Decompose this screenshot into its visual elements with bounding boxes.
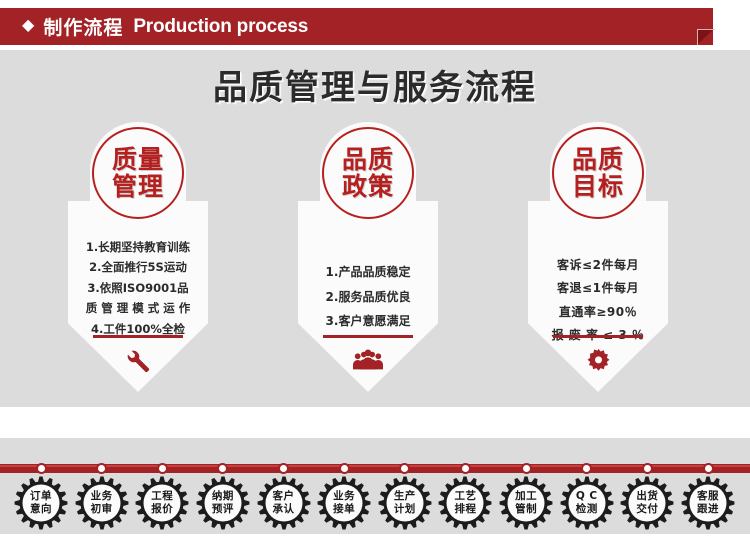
flow-node-1[interactable]: 订单意向: [14, 476, 68, 530]
header-title-cn: 制作流程: [43, 13, 123, 40]
list-item: 1.产品品质稳定: [298, 260, 438, 285]
card-divider: [93, 335, 183, 338]
list-item: 质 管 理 模 式 运 作: [68, 298, 208, 318]
card-quality-policy: 品质 政策 1.产品品质稳定 2.服务品质优良 3.客户意愿满足: [298, 120, 438, 392]
card-circle-title: 品质 目标: [552, 127, 644, 219]
flow-node-label: 纳期预评: [196, 476, 250, 530]
flow-node-label: 订单意向: [14, 476, 68, 530]
people-icon: [298, 348, 438, 377]
flow-node-label-line2: 接单: [333, 503, 355, 516]
flow-connector-dot: [36, 463, 47, 474]
flow-node-label: 工程报价: [135, 476, 189, 530]
flow-node-6[interactable]: 业务接单: [317, 476, 371, 530]
flow-node-label-line2: 交付: [636, 503, 658, 516]
card-circle-line2: 目标: [572, 173, 624, 200]
flow-node-label-line1: 出货: [636, 490, 658, 503]
flow-connector-dot: [642, 463, 653, 474]
gear-icon: [528, 348, 668, 378]
list-item: 2.服务品质优良: [298, 285, 438, 310]
flow-node-12[interactable]: 客服跟进: [681, 476, 735, 530]
flow-node-label-line1: 客服: [697, 490, 719, 503]
flow-connector-dot: [521, 463, 532, 474]
flow-node-label-line1: 业务: [91, 490, 113, 503]
flow-node-3[interactable]: 工程报价: [135, 476, 189, 530]
flow-node-label-line1: 生产: [394, 490, 416, 503]
card-item-list: 客诉≤2件每月 客退≤1件每月 直通率≥90％ 报 废 率 ≤ 3 ％: [528, 254, 668, 348]
flow-node-9[interactable]: 加工管制: [499, 476, 553, 530]
flow-node-label: 工艺排程: [438, 476, 492, 530]
flow-node-10[interactable]: Q C检测: [560, 476, 614, 530]
diamond-icon: ◆: [22, 18, 34, 34]
panel-divider: [0, 407, 750, 438]
card-circle-line1: 质量: [112, 146, 164, 173]
flow-connector-dot: [157, 463, 168, 474]
card-circle-line1: 品质: [572, 146, 624, 173]
card-circle-line1: 品质: [342, 146, 394, 173]
flow-node-label-line1: 加工: [515, 490, 537, 503]
list-item: 1.长期坚持教育训练: [68, 237, 208, 257]
flow-node-label: 出货交付: [620, 476, 674, 530]
flow-node-label-line2: 意向: [30, 503, 52, 516]
footer-strip: [0, 534, 750, 542]
flow-node-label: 业务初审: [75, 476, 129, 530]
flow-node-label-line1: 纳期: [212, 490, 234, 503]
card-item-list: 1.产品品质稳定 2.服务品质优良 3.客户意愿满足: [298, 260, 438, 334]
header-title-group: ◆ 制作流程 Production process: [0, 13, 308, 40]
card-quality-management: 质量 管理 1.长期坚持教育训练 2.全面推行5S运动 3.依照ISO9001品…: [68, 120, 208, 392]
flow-node-label-line1: 客户: [273, 490, 295, 503]
card-quality-goal: 品质 目标 客诉≤2件每月 客退≤1件每月 直通率≥90％ 报 废 率 ≤ 3 …: [528, 120, 668, 392]
flow-node-label-line1: 工艺: [454, 490, 476, 503]
list-item: 2.全面推行5S运动: [68, 257, 208, 277]
card-divider: [323, 335, 413, 338]
flow-node-4[interactable]: 纳期预评: [196, 476, 250, 530]
flow-node-label-line2: 预评: [212, 503, 234, 516]
wrench-icon: [68, 348, 208, 379]
list-item: 直通率≥90％: [528, 301, 668, 324]
flow-node-7[interactable]: 生产计划: [378, 476, 432, 530]
flow-node-label-line2: 初审: [91, 503, 113, 516]
flow-node-label-line2: 承认: [273, 503, 295, 516]
flow-node-label-line1: 工程: [151, 490, 173, 503]
flow-node-label-line2: 报价: [151, 503, 173, 516]
card-circle-line2: 管理: [112, 173, 164, 200]
flow-node-label-line1: Q C: [576, 490, 598, 503]
list-item: 3.依照ISO9001品: [68, 278, 208, 298]
list-item: 3.客户意愿满足: [298, 309, 438, 334]
flow-node-label: 客服跟进: [681, 476, 735, 530]
card-item-list: 1.长期坚持教育训练 2.全面推行5S运动 3.依照ISO9001品 质 管 理…: [68, 237, 208, 339]
flow-node-label-line1: 订单: [30, 490, 52, 503]
flow-timeline: [0, 464, 750, 473]
flow-node-11[interactable]: 出货交付: [620, 476, 674, 530]
page-title: 品质管理与服务流程: [0, 60, 750, 109]
card-divider: [553, 335, 643, 338]
flow-node-label: 生产计划: [378, 476, 432, 530]
flow-node-label-line2: 排程: [454, 503, 476, 516]
flow-node-label-line2: 计划: [394, 503, 416, 516]
flow-node-label-line2: 跟进: [697, 503, 719, 516]
list-item: 客退≤1件每月: [528, 277, 668, 300]
flow-node-label: 加工管制: [499, 476, 553, 530]
header-title-en: Production process: [133, 16, 308, 38]
card-circle-title: 质量 管理: [92, 127, 184, 219]
flow-connector-dot: [278, 463, 289, 474]
flow-node-8[interactable]: 工艺排程: [438, 476, 492, 530]
flow-node-label-line1: 业务: [333, 490, 355, 503]
flow-node-2[interactable]: 业务初审: [75, 476, 129, 530]
flow-node-label-line2: 管制: [515, 503, 537, 516]
list-item: 客诉≤2件每月: [528, 254, 668, 277]
flow-node-label-line2: 检测: [576, 503, 598, 516]
flow-node-label: Q C检测: [560, 476, 614, 530]
flow-connector-dot: [703, 463, 714, 474]
page-root: ◆ 制作流程 Production process 品质管理与服务流程 质量 管…: [0, 0, 750, 542]
card-circle-line2: 政策: [342, 173, 394, 200]
corner-fold-icon: [697, 29, 714, 45]
flow-node-5[interactable]: 客户承认: [257, 476, 311, 530]
header-bar: ◆ 制作流程 Production process: [0, 8, 713, 45]
flow-connector-dot: [460, 463, 471, 474]
flow-connector-dot: [339, 463, 350, 474]
card-circle-title: 品质 政策: [322, 127, 414, 219]
flow-node-label: 客户承认: [257, 476, 311, 530]
flow-node-label: 业务接单: [317, 476, 371, 530]
